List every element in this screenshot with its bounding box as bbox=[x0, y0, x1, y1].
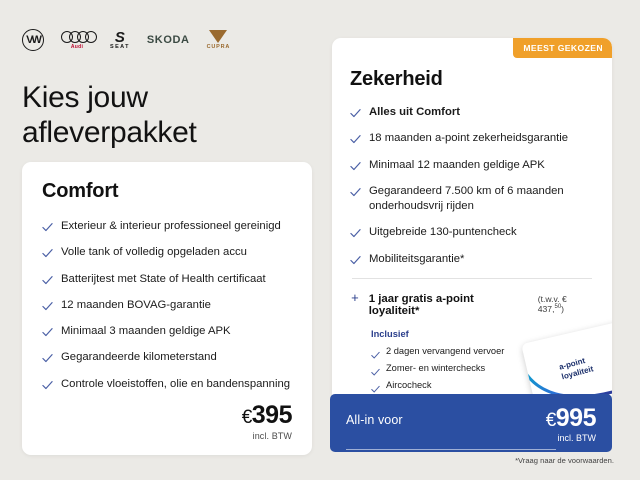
footer-rule bbox=[346, 449, 556, 450]
zekerheid-feature-label: Minimaal 12 maanden geldige APK bbox=[369, 158, 545, 173]
footer-price-amount: 995 bbox=[556, 404, 596, 432]
inclusief-item-label: Aircocheck bbox=[386, 379, 431, 391]
comfort-feature-item: Batterijtest met State of Health certifi… bbox=[42, 272, 292, 287]
footnote: *Vraag naar de voorwaarden. bbox=[515, 456, 614, 465]
comfort-feature-item: Volle tank of volledig opgeladen accu bbox=[42, 245, 292, 260]
comfort-feature-item: Controle vloeistoffen, olie en bandenspa… bbox=[42, 377, 292, 392]
cupra-logo-icon: CUPRA bbox=[207, 30, 231, 50]
skoda-logo-icon: SKODA bbox=[147, 34, 190, 46]
check-icon bbox=[42, 380, 52, 390]
zekerheid-feature-item: Uitgebreide 130-puntencheck bbox=[350, 225, 594, 240]
zekerheid-feature-item: 18 maanden a-point zekerheidsgarantie bbox=[350, 131, 594, 146]
comfort-price-note: incl. BTW bbox=[242, 431, 292, 441]
footer-price-note: incl. BTW bbox=[546, 433, 596, 443]
divider bbox=[352, 278, 592, 279]
volkswagen-logo-icon: VW bbox=[22, 29, 44, 51]
comfort-feature-label: Minimaal 3 maanden geldige APK bbox=[61, 324, 231, 339]
comfort-feature-item: Exterieur & interieur professioneel gere… bbox=[42, 219, 292, 234]
currency-symbol: € bbox=[546, 410, 556, 431]
check-icon bbox=[350, 228, 360, 238]
comfort-price-block: €395 incl. BTW bbox=[242, 403, 292, 441]
comfort-feature-list: Exterieur & interieur professioneel gere… bbox=[42, 219, 292, 392]
page-title: Kies jouw afleverpakket bbox=[22, 80, 302, 150]
check-icon bbox=[371, 347, 379, 355]
check-icon bbox=[350, 108, 360, 118]
check-icon bbox=[371, 364, 379, 372]
loyalty-value-note: (t.w.v. € 437,50) bbox=[538, 294, 594, 314]
check-icon bbox=[350, 187, 360, 197]
footer-price-block: €995 incl. BTW bbox=[546, 406, 596, 443]
check-icon bbox=[42, 275, 52, 285]
loyalty-label: 1 jaar gratis a-point loyaliteit* bbox=[369, 293, 524, 317]
check-icon bbox=[42, 248, 52, 258]
check-icon bbox=[42, 301, 52, 311]
brand-logo-strip: VW Audi S SEAT SKODA CUPRA bbox=[22, 27, 230, 53]
check-icon bbox=[371, 381, 379, 389]
comfort-feature-label: Exterieur & interieur professioneel gere… bbox=[61, 219, 281, 234]
loyalty-value-suffix: ) bbox=[561, 304, 564, 314]
loyalty-plus-row: + 1 jaar gratis a-point loyaliteit* (t.w… bbox=[350, 291, 594, 317]
zekerheid-price-footer[interactable]: All-in voor €995 incl. BTW bbox=[330, 394, 612, 452]
check-icon bbox=[350, 255, 360, 265]
zekerheid-feature-list: Alles uit Comfort18 maanden a-point zeke… bbox=[350, 105, 594, 267]
plus-icon: + bbox=[350, 291, 360, 304]
inclusief-item-label: 2 dagen vervangend vervoer bbox=[386, 345, 504, 357]
comfort-price: €395 bbox=[242, 403, 292, 428]
comfort-price-amount: 395 bbox=[252, 401, 292, 429]
promo-page: VW Audi S SEAT SKODA CUPRA Kies jouw afl… bbox=[0, 0, 640, 480]
check-icon bbox=[42, 327, 52, 337]
status-badge: MEEST GEKOZEN bbox=[513, 38, 612, 58]
comfort-feature-item: Gegarandeerde kilometerstand bbox=[42, 350, 292, 365]
check-icon bbox=[42, 353, 52, 363]
comfort-title: Comfort bbox=[42, 180, 292, 203]
zekerheid-feature-label: 18 maanden a-point zekerheidsgarantie bbox=[369, 131, 568, 146]
comfort-feature-label: Controle vloeistoffen, olie en bandenspa… bbox=[61, 377, 290, 392]
comfort-feature-label: Gegarandeerde kilometerstand bbox=[61, 350, 217, 365]
footer-price-row: All-in voor €995 incl. BTW bbox=[346, 406, 596, 443]
zekerheid-feature-label: Alles uit Comfort bbox=[369, 105, 460, 120]
footer-label: All-in voor bbox=[346, 406, 403, 427]
currency-symbol: € bbox=[242, 407, 252, 428]
comfort-feature-label: Volle tank of volledig opgeladen accu bbox=[61, 245, 247, 260]
zekerheid-feature-item: Gegarandeerd 7.500 km of 6 maanden onder… bbox=[350, 184, 594, 215]
zekerheid-feature-label: Mobiliteitsgarantie* bbox=[369, 252, 464, 267]
check-icon bbox=[350, 161, 360, 171]
seat-logo-icon: S SEAT bbox=[110, 31, 130, 50]
package-card-zekerheid[interactable]: MEEST GEKOZEN Zekerheid Alles uit Comfor… bbox=[332, 38, 612, 398]
audi-logo-icon: Audi bbox=[61, 31, 93, 50]
footer-price: €995 bbox=[546, 406, 596, 431]
zekerheid-feature-label: Uitgebreide 130-puntencheck bbox=[369, 225, 517, 240]
zekerheid-title: Zekerheid bbox=[350, 68, 594, 91]
zekerheid-feature-item: Alles uit Comfort bbox=[350, 105, 594, 120]
zekerheid-feature-item: Mobiliteitsgarantie* bbox=[350, 252, 594, 267]
check-icon bbox=[350, 134, 360, 144]
package-card-comfort[interactable]: Comfort Exterieur & interieur profession… bbox=[22, 162, 312, 455]
comfort-feature-label: 12 maanden BOVAG-garantie bbox=[61, 298, 211, 313]
comfort-feature-item: 12 maanden BOVAG-garantie bbox=[42, 298, 292, 313]
inclusief-item-label: Zomer- en winterchecks bbox=[386, 362, 485, 374]
comfort-feature-label: Batterijtest met State of Health certifi… bbox=[61, 272, 266, 287]
check-icon bbox=[42, 222, 52, 232]
comfort-feature-item: Minimaal 3 maanden geldige APK bbox=[42, 324, 292, 339]
zekerheid-feature-label: Gegarandeerd 7.500 km of 6 maanden onder… bbox=[369, 184, 594, 215]
zekerheid-feature-item: Minimaal 12 maanden geldige APK bbox=[350, 158, 594, 173]
